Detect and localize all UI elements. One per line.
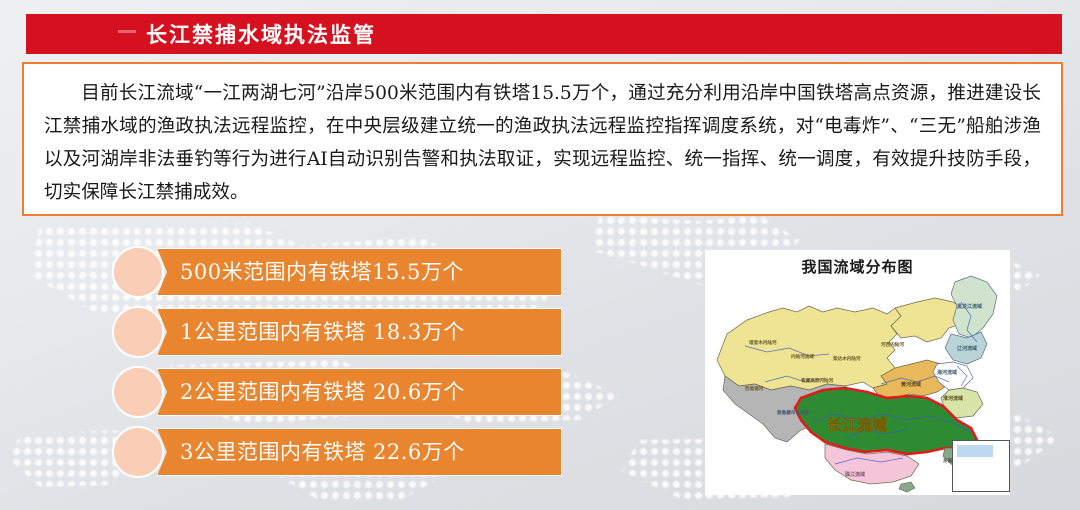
map-inset-sea-area bbox=[957, 445, 993, 457]
description-box: 目前长江流域“一江两湖七河”沿岸500米范围内有铁塔15.5万个，通过充分利用沿… bbox=[22, 62, 1063, 216]
svg-text:塔里木内陆河: 塔里木内陆河 bbox=[749, 339, 777, 346]
list-item-bullet-icon bbox=[112, 426, 164, 478]
svg-text:珠江流域: 珠江流域 bbox=[845, 471, 865, 478]
description-paragraph: 目前长江流域“一江两湖七河”沿岸500米范围内有铁塔15.5万个，通过充分利用沿… bbox=[44, 77, 1041, 209]
svg-text:雅鲁藏布江流域: 雅鲁藏布江流域 bbox=[777, 409, 810, 416]
list-item-bullet-icon bbox=[112, 306, 164, 358]
svg-text:淮河流域: 淮河流域 bbox=[943, 395, 963, 402]
svg-text:河西内陆河: 河西内陆河 bbox=[880, 341, 904, 348]
map-highlight-label: 长江流域 bbox=[827, 416, 887, 434]
title-accent-mark bbox=[118, 30, 136, 33]
list-item-label: 500米范围内有铁塔15.5万个 bbox=[180, 248, 464, 296]
map-inset-box bbox=[952, 440, 1010, 492]
river-basin-map: 我国流域分布图 bbox=[705, 250, 1010, 495]
list-item[interactable]: 2公里范围内有铁塔 20.6万个 bbox=[112, 368, 562, 416]
list-item-label: 3公里范围内有铁塔 22.6万个 bbox=[180, 428, 465, 476]
tower-count-list: 500米范围内有铁塔15.5万个 1公里范围内有铁塔 18.3万个 2公里范围内… bbox=[112, 248, 562, 476]
page-title: 长江禁捕水域执法监管 bbox=[146, 19, 376, 49]
svg-text:辽河流域: 辽河流域 bbox=[957, 345, 977, 352]
svg-text:内陆河流域: 内陆河流域 bbox=[791, 353, 814, 360]
list-item[interactable]: 3公里范围内有铁塔 22.6万个 bbox=[112, 428, 562, 476]
svg-text:黄河流域: 黄河流域 bbox=[901, 381, 921, 388]
svg-text:西南诸河: 西南诸河 bbox=[745, 385, 764, 392]
svg-text:青藏高原内陆河: 青藏高原内陆河 bbox=[801, 377, 834, 384]
list-item[interactable]: 500米范围内有铁塔15.5万个 bbox=[112, 248, 562, 296]
svg-text:黑龙江流域: 黑龙江流域 bbox=[957, 303, 982, 310]
slide-root: 长江禁捕水域执法监管 目前长江流域“一江两湖七河”沿岸500米范围内有铁塔15.… bbox=[0, 0, 1080, 510]
map-title: 我国流域分布图 bbox=[705, 256, 1010, 277]
svg-text:柴达木内陆河: 柴达木内陆河 bbox=[832, 355, 861, 362]
slide-title-bar: 长江禁捕水域执法监管 bbox=[26, 14, 1062, 54]
list-item-label: 1公里范围内有铁塔 18.3万个 bbox=[180, 308, 465, 356]
list-item-bullet-icon bbox=[112, 366, 164, 418]
list-item-label: 2公里范围内有铁塔 20.6万个 bbox=[180, 368, 465, 416]
list-item[interactable]: 1公里范围内有铁塔 18.3万个 bbox=[112, 308, 562, 356]
svg-text:海河流域: 海河流域 bbox=[937, 369, 957, 376]
list-item-bullet-icon bbox=[112, 246, 164, 298]
